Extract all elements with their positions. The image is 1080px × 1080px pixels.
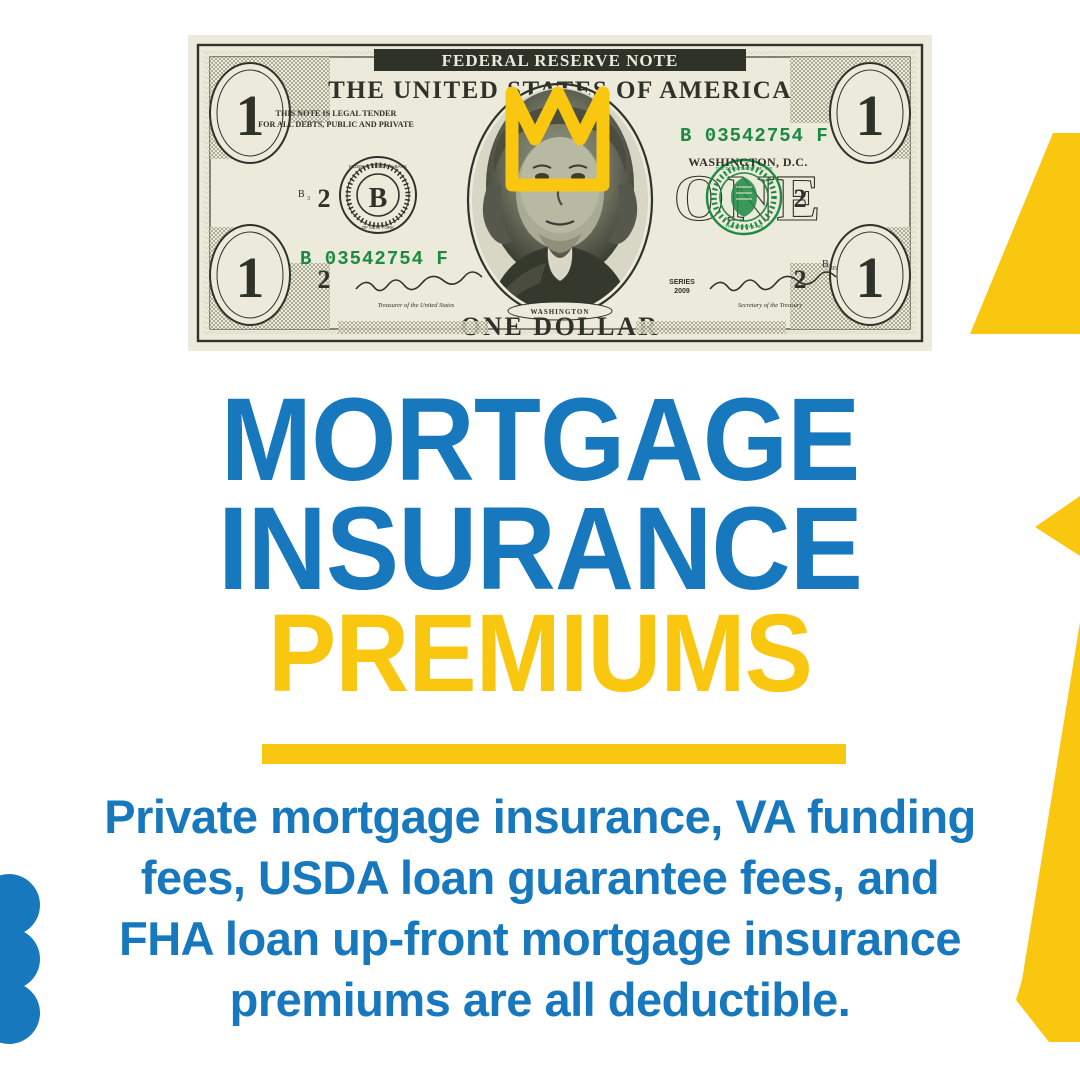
bill-plate-left: B <box>298 189 305 200</box>
blue-dot-3 <box>0 982 40 1044</box>
page-title: MORTGAGE INSURANCE PREMIUMS <box>0 386 1080 704</box>
blue-dot-1 <box>0 874 40 936</box>
svg-text:TREASURY 1789: TREASURY 1789 <box>725 224 763 230</box>
headline-line-2: INSURANCE <box>38 495 1042 604</box>
dollar-bill-illustration: 1 1 1 1 FEDERAL RESERVE NOTE THE UNITED … <box>188 35 932 351</box>
svg-text:B: B <box>369 183 388 214</box>
svg-text:1: 1 <box>236 245 265 310</box>
svg-text:3: 3 <box>307 196 310 202</box>
svg-text:1: 1 <box>856 83 885 148</box>
poster-canvas: 1 1 1 1 FEDERAL RESERVE NOTE THE UNITED … <box>0 0 1080 1080</box>
body-line-2: fees, USDA loan guarantee fees, and <box>62 847 1018 908</box>
yellow-triangle-shape <box>970 133 1080 334</box>
bill-secretary-title: Secretary of the Treasury <box>738 302 802 309</box>
svg-text:1: 1 <box>236 83 265 148</box>
body-line-1: Private mortgage insurance, VA funding <box>62 786 1018 847</box>
bill-serial-bottom-left: B 03542754 F <box>300 248 449 270</box>
bill-plate-right: B <box>822 259 829 270</box>
bill-denomination-word: ONE DOLLAR <box>460 312 659 341</box>
svg-text:OF NEW YORK: OF NEW YORK <box>362 225 396 230</box>
headline-underline-rule <box>262 744 846 764</box>
blue-dot-2 <box>0 928 40 990</box>
headline-line-1: MORTGAGE <box>38 386 1042 495</box>
bill-series-label: SERIES <box>669 279 695 286</box>
bill-serial-top-right: B 03542754 F <box>680 125 829 147</box>
bill-legal-line-1: THIS NOTE IS LEGAL TENDER <box>276 109 397 118</box>
headline-line-3: PREMIUMS <box>38 603 1042 704</box>
svg-text:FEDERAL RESERVE BANK: FEDERAL RESERVE BANK <box>349 164 408 169</box>
svg-text:95: 95 <box>831 266 837 272</box>
bill-city-line: WASHINGTON, D.C. <box>688 155 808 169</box>
bill-series-year: 2009 <box>674 288 690 295</box>
dollar-bill-image: 1 1 1 1 FEDERAL RESERVE NOTE THE UNITED … <box>188 35 932 351</box>
body-line-3: FHA loan up-front mortgage insurance <box>62 908 1018 969</box>
bill-district-number-left: 2 <box>318 184 331 213</box>
svg-text:1: 1 <box>856 245 885 310</box>
bill-treasurer-title: Treasurer of the United States <box>378 302 455 309</box>
bill-legal-line-2: FOR ALL DEBTS, PUBLIC AND PRIVATE <box>258 120 414 129</box>
bill-top-banner: FEDERAL RESERVE NOTE <box>442 51 679 70</box>
body-copy: Private mortgage insurance, VA funding f… <box>62 786 1018 1030</box>
body-line-4: premiums are all deductible. <box>62 969 1018 1030</box>
